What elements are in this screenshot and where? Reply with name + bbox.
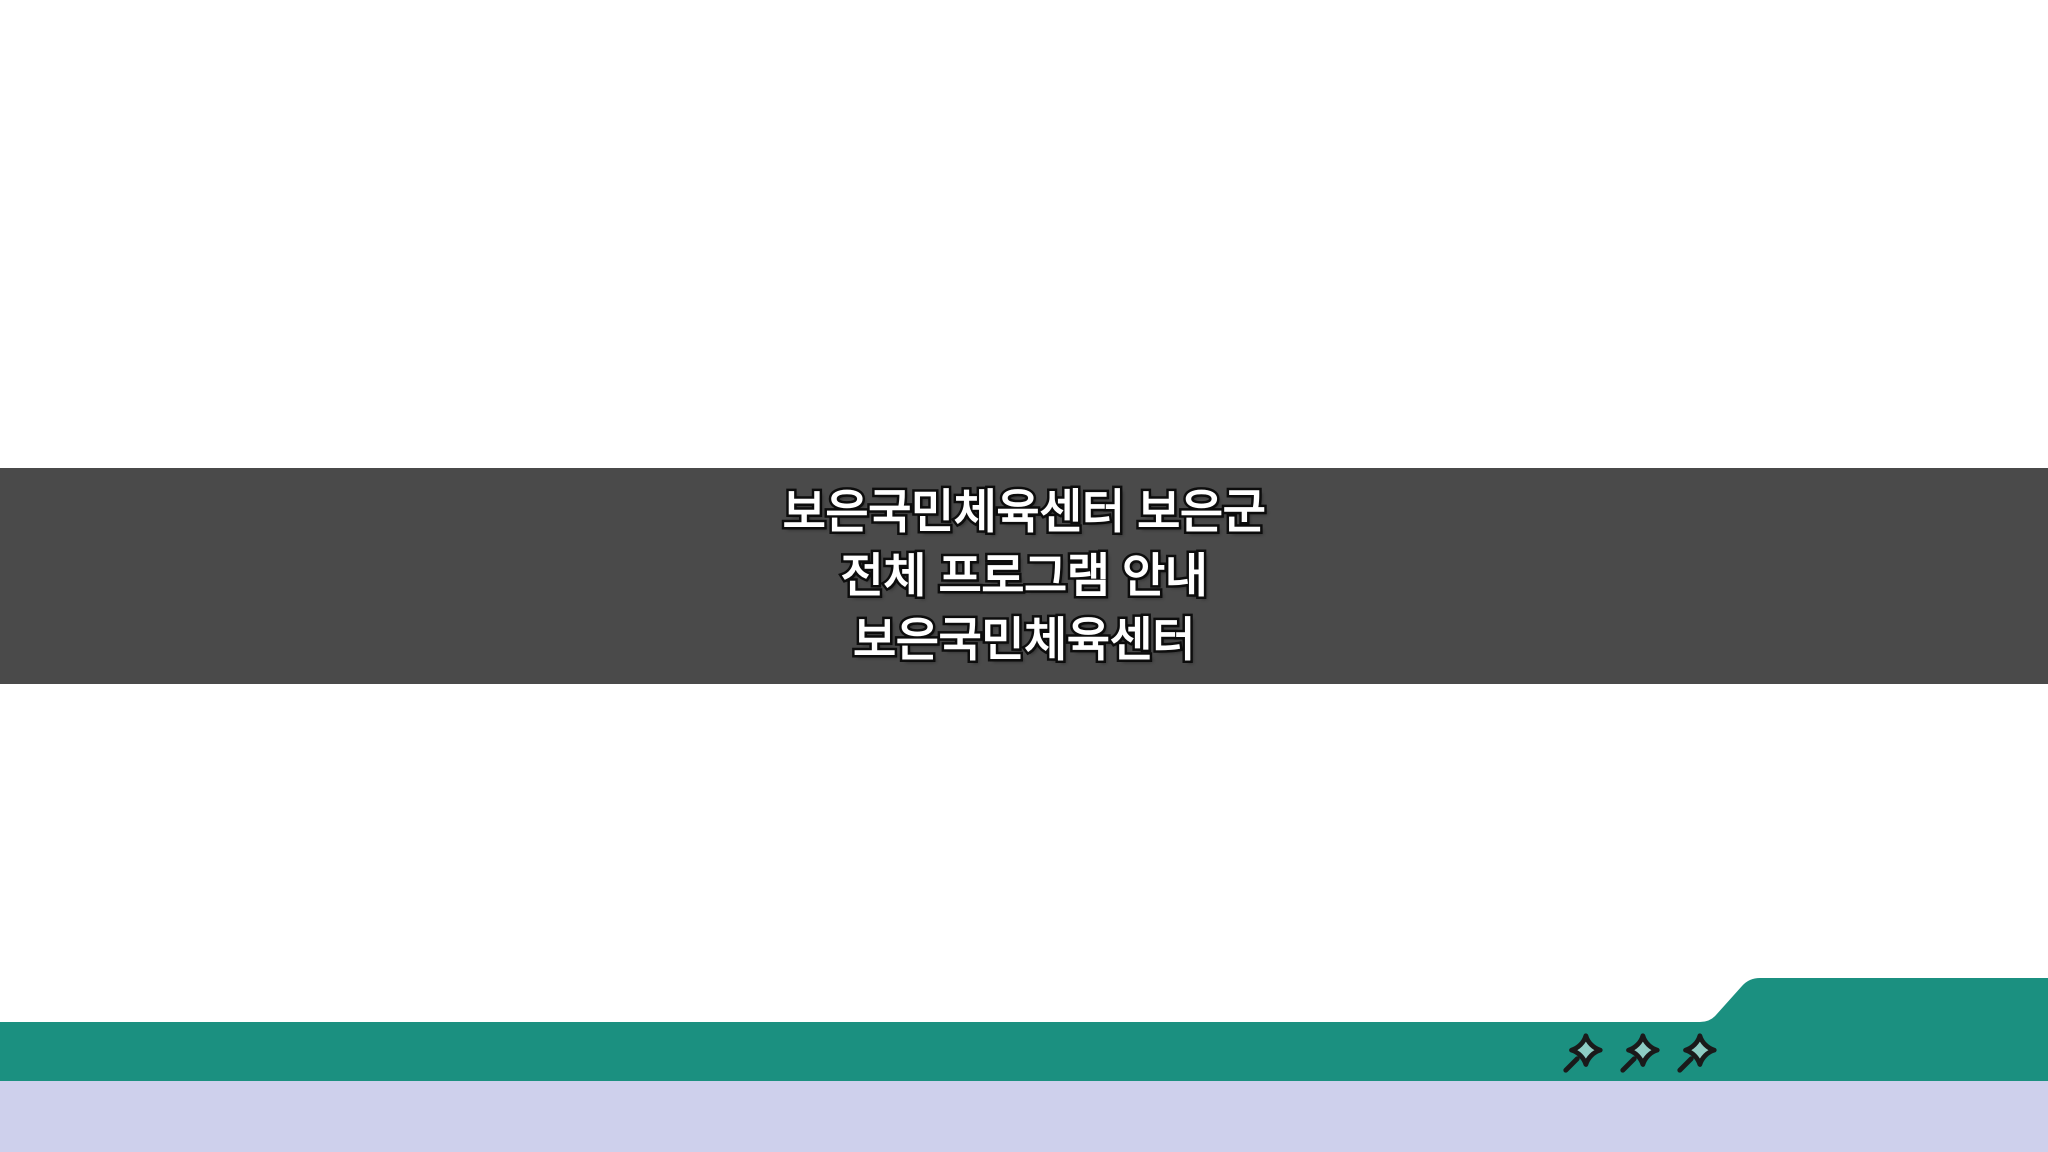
title-line-2: 전체 프로그램 안내: [840, 544, 1207, 608]
title-banner: 보은국민체육센터 보은군 전체 프로그램 안내 보은국민체육센터: [0, 468, 2048, 684]
title-line-1: 보은국민체육센터 보은군: [783, 480, 1266, 544]
base-strip: [0, 1081, 2048, 1152]
diamond-pin-icon: [1560, 1030, 1606, 1076]
lower-blank-area: [0, 684, 2048, 1022]
footer-decoration-row: [1560, 1030, 1730, 1076]
title-line-3: 보은국민체육센터: [853, 608, 1195, 672]
diamond-pin-icon: [1617, 1030, 1663, 1076]
diamond-pin-icon: [1674, 1030, 1720, 1076]
slide-canvas: 보은국민체육센터 보은군 전체 프로그램 안내 보은국민체육센터: [0, 0, 2048, 1152]
upper-blank-area: [0, 0, 2048, 468]
